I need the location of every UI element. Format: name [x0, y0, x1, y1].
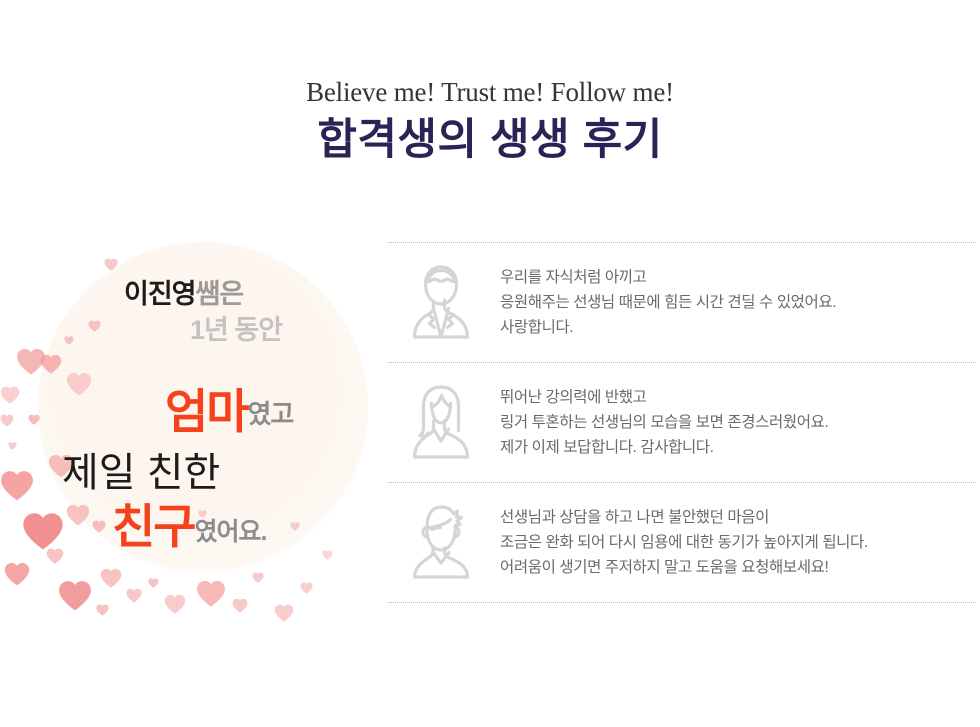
review-text-1: 우리를 자식처럼 아끼고 응원해주는 선생님 때문에 힘든 시간 견딜 수 있었… [500, 265, 836, 340]
promo-line-1-suffix: 쌤은 [196, 279, 244, 309]
young-man-avatar-icon [404, 501, 478, 585]
review-line: 사랑합니다. [500, 315, 836, 340]
review-item-1: 우리를 자식처럼 아끼고 응원해주는 선생님 때문에 힘든 시간 견딜 수 있었… [388, 243, 976, 362]
review-line: 제가 이제 보답합니다. 감사합니다. [500, 435, 828, 460]
promo-panel: 이진영쌤은 1년 동안 엄마였고 제일 친한 친구였어요. [0, 232, 386, 632]
review-line: 응원해주는 선생님 때문에 힘든 시간 견딜 수 있었어요. [500, 290, 836, 315]
promo-line-3-tail: 였고 [247, 399, 293, 429]
header-eyebrow: Believe me! Trust me! Follow me! [0, 78, 980, 108]
page-header: Believe me! Trust me! Follow me! 합격생의 생생… [0, 0, 980, 164]
review-line: 뛰어난 강의력에 반했고 [500, 385, 828, 410]
promo-line-2-text: 1년 동안 [190, 308, 282, 347]
review-list: 우리를 자식처럼 아끼고 응원해주는 선생님 때문에 힘든 시간 견딜 수 있었… [388, 242, 976, 603]
review-text-3: 선생님과 상담을 하고 나면 불안했던 마음이 조금은 완화 되어 다시 임용에… [500, 505, 868, 580]
promo-line-5: 친구였어요. [112, 488, 266, 557]
review-item-2: 뛰어난 강의력에 반했고 링거 투혼하는 선생님의 모습을 보면 존경스러웠어요… [388, 363, 976, 482]
review-item-3: 선생님과 상담을 하고 나면 불안했던 마음이 조금은 완화 되어 다시 임용에… [388, 483, 976, 602]
promo-line-1: 이진영쌤은 [124, 272, 243, 311]
promo-text-block: 이진영쌤은 1년 동안 엄마였고 제일 친한 친구였어요. [0, 232, 386, 632]
promo-highlight-friend: 친구 [112, 500, 194, 553]
review-line: 어려움이 생기면 주저하지 말고 도움을 요청해보세요! [500, 555, 868, 580]
review-line: 선생님과 상담을 하고 나면 불안했던 마음이 [500, 505, 868, 530]
promo-highlight-mom: 엄마 [165, 385, 247, 438]
review-line: 링거 투혼하는 선생님의 모습을 보면 존경스러웠어요. [500, 410, 828, 435]
promo-teacher-name: 이진영 [124, 279, 196, 309]
page-title: 합격생의 생생 후기 [0, 116, 980, 164]
long-hair-woman-avatar-icon [404, 381, 478, 465]
review-divider [388, 602, 976, 603]
review-line: 조금은 완화 되어 다시 임용에 대한 동기가 높아지게 됩니다. [500, 530, 868, 555]
promo-line-2: 1년 동안 [190, 308, 282, 347]
promo-line-5-tail: 였어요. [194, 518, 266, 546]
promo-line-3: 엄마였고 [165, 373, 293, 442]
man-in-suit-avatar-icon [404, 261, 478, 345]
review-text-2: 뛰어난 강의력에 반했고 링거 투혼하는 선생님의 모습을 보면 존경스러웠어요… [500, 385, 828, 460]
review-line: 우리를 자식처럼 아끼고 [500, 265, 836, 290]
